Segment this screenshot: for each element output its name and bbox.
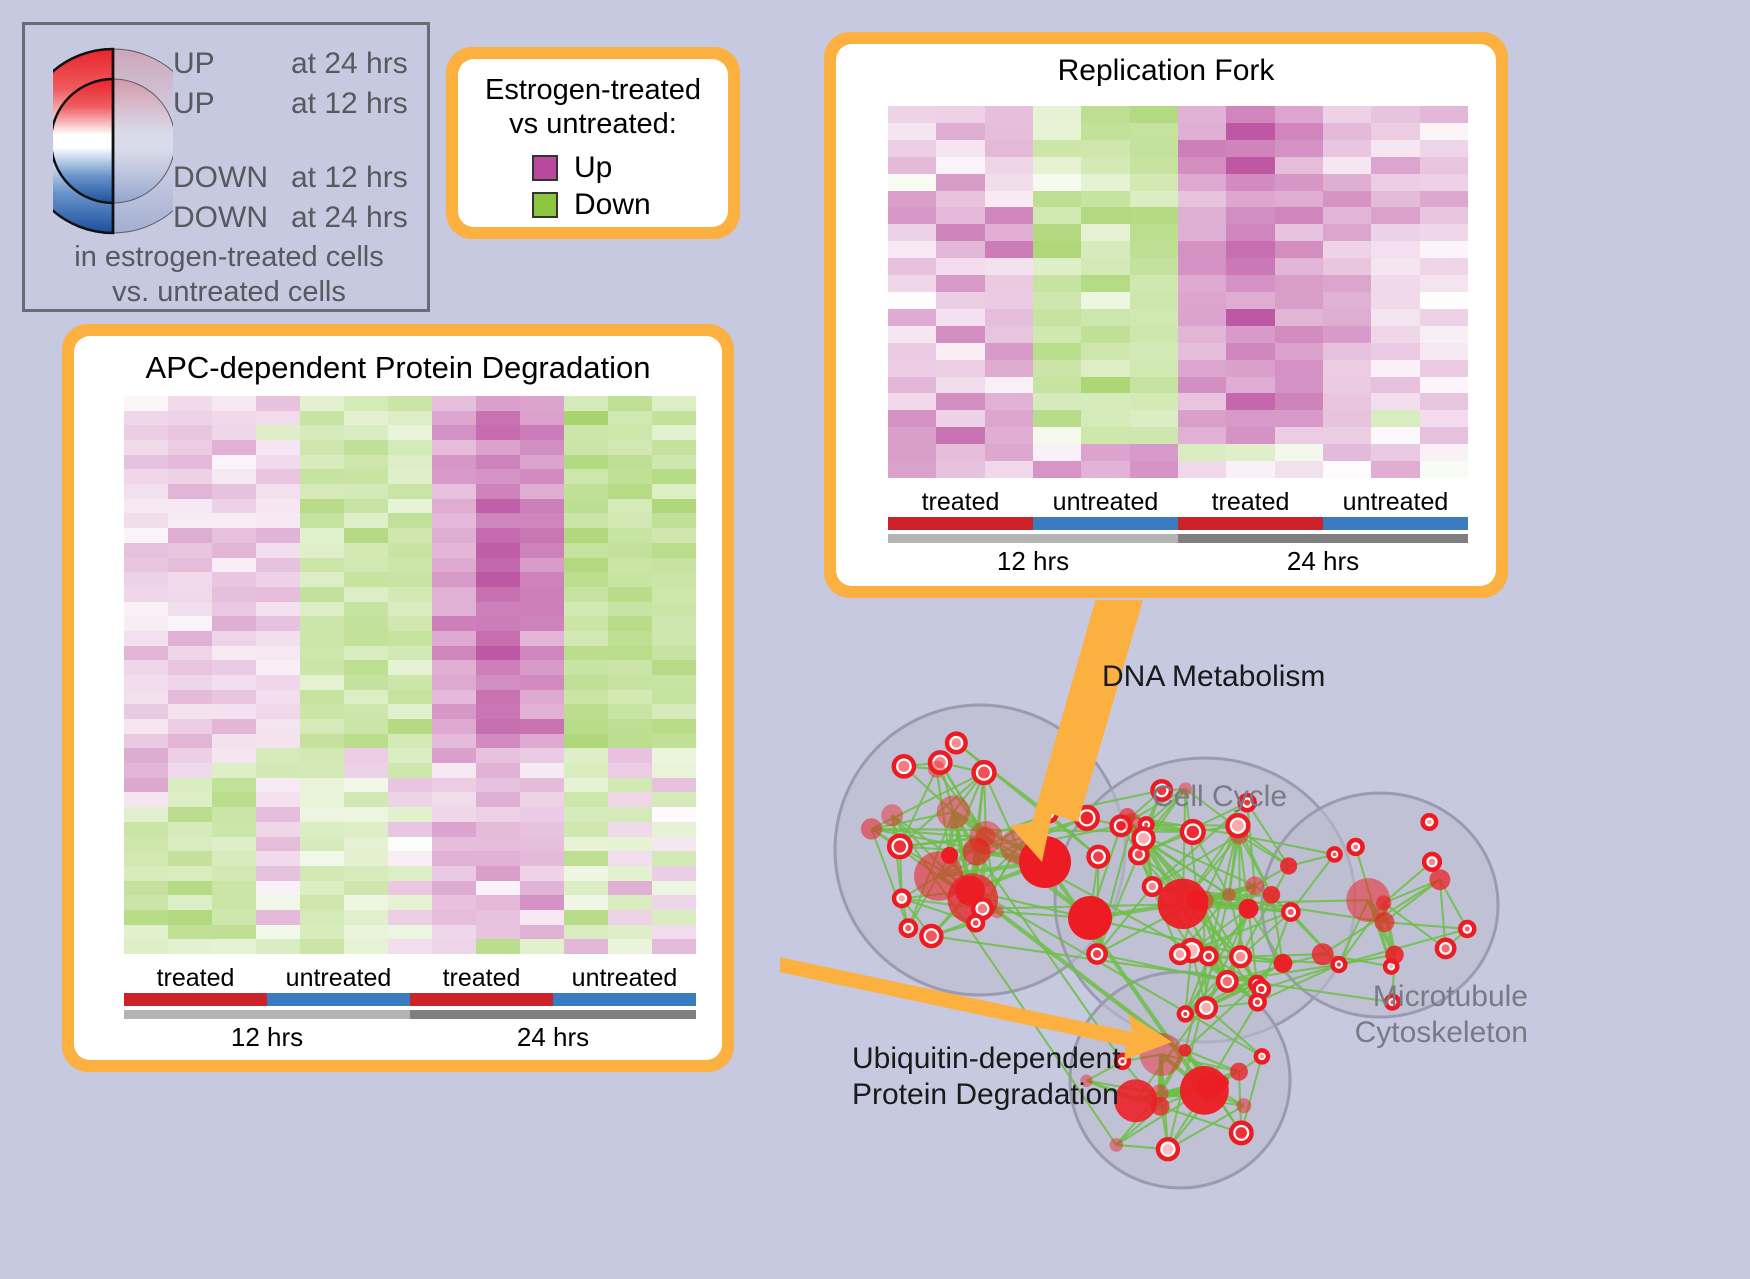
heatmap-cell bbox=[256, 837, 300, 852]
heatmap-cell bbox=[564, 748, 608, 763]
heatmap-cell bbox=[388, 543, 432, 558]
heatmap-cell bbox=[652, 837, 696, 852]
network-node bbox=[952, 738, 962, 748]
heatmap-cell bbox=[168, 748, 212, 763]
heatmap-cell bbox=[432, 558, 476, 573]
heatmap-cell bbox=[1420, 360, 1468, 377]
heatmap-cell bbox=[608, 440, 652, 455]
heatmap-cell bbox=[124, 807, 168, 822]
heatmap-cell bbox=[388, 513, 432, 528]
timepoint-labels: 12 hrs24 hrs bbox=[124, 1022, 696, 1053]
heatmap-cell bbox=[432, 646, 476, 661]
heatmap-cell bbox=[1130, 224, 1178, 241]
heatmap-cell bbox=[1323, 191, 1371, 208]
condition-color-segment bbox=[410, 993, 553, 1006]
heatmap-cell bbox=[888, 106, 936, 123]
heatmap-cell bbox=[168, 822, 212, 837]
network-node bbox=[1236, 1098, 1251, 1113]
heatmap-cell bbox=[652, 910, 696, 925]
heatmap-cell bbox=[1420, 377, 1468, 394]
timepoint-label: 12 hrs bbox=[124, 1022, 410, 1053]
heatmap-cell bbox=[1033, 427, 1081, 444]
heatmap-cell bbox=[344, 425, 388, 440]
heatmap-cell bbox=[1371, 224, 1419, 241]
heatmap-cell bbox=[608, 925, 652, 940]
heatmap-cell bbox=[124, 851, 168, 866]
heatmap-cell bbox=[388, 939, 432, 954]
heatmap-cell bbox=[1371, 343, 1419, 360]
heatmap-cell bbox=[1371, 258, 1419, 275]
heatmap-cell bbox=[344, 616, 388, 631]
heatmap-cell bbox=[344, 778, 388, 793]
heatmap-cell bbox=[300, 734, 344, 749]
heatmap-cell bbox=[564, 822, 608, 837]
heatmap-cell bbox=[212, 748, 256, 763]
heatmap-cell bbox=[168, 837, 212, 852]
heatmap-cell bbox=[520, 851, 564, 866]
heatmap-cell bbox=[652, 513, 696, 528]
heatmap-cell bbox=[256, 616, 300, 631]
heatmap-cell bbox=[1033, 275, 1081, 292]
network-node bbox=[1162, 1144, 1173, 1155]
timepoint-labels: 12 hrs24 hrs bbox=[888, 546, 1468, 577]
heatmap-cell bbox=[388, 704, 432, 719]
heatmap-cell bbox=[124, 822, 168, 837]
pathway-network-diagram: DNA Metabolism Cell Cycle Microtubule Cy… bbox=[780, 600, 1580, 1279]
heatmap-cell bbox=[1033, 393, 1081, 410]
heatmap-cell bbox=[168, 587, 212, 602]
heatmap-cell bbox=[520, 513, 564, 528]
heatmap-cell bbox=[520, 646, 564, 661]
heatmap-cell bbox=[256, 646, 300, 661]
heatmap-cell bbox=[936, 444, 984, 461]
heatmap-cell bbox=[432, 499, 476, 514]
heatmap-cell bbox=[936, 207, 984, 224]
heatmap-cell bbox=[256, 484, 300, 499]
heatmap-cell bbox=[168, 895, 212, 910]
heatmap-cell bbox=[476, 748, 520, 763]
heatmap-cell bbox=[652, 807, 696, 822]
heatmap-cell bbox=[168, 925, 212, 940]
heatmap-cell bbox=[388, 719, 432, 734]
heatmap-cell bbox=[432, 748, 476, 763]
heatmap-cell bbox=[564, 631, 608, 646]
heatmap-cell bbox=[168, 807, 212, 822]
heatmap-cell bbox=[388, 851, 432, 866]
network-node bbox=[905, 925, 911, 931]
timepoint-label: 24 hrs bbox=[1178, 546, 1468, 577]
heatmap-cell bbox=[256, 631, 300, 646]
heatmap-cell bbox=[432, 837, 476, 852]
timepoint-graybar bbox=[888, 534, 1468, 543]
heatmap-cell bbox=[652, 425, 696, 440]
heatmap-cell bbox=[388, 925, 432, 940]
heatmap-cell bbox=[652, 866, 696, 881]
heatmap-cell bbox=[985, 224, 1033, 241]
heatmap-cell bbox=[124, 572, 168, 587]
heatmap-cell bbox=[1033, 191, 1081, 208]
heatmap-cell bbox=[564, 734, 608, 749]
heatmap-cell bbox=[1130, 326, 1178, 343]
heatmap-cell bbox=[1081, 106, 1129, 123]
heatmap-cell bbox=[124, 646, 168, 661]
replication-fork-heatmap bbox=[888, 106, 1468, 478]
colorwheel-direction: DOWN bbox=[173, 161, 291, 195]
heatmap-cell bbox=[432, 587, 476, 602]
heatmap-cell bbox=[1275, 106, 1323, 123]
heatmap-cell bbox=[212, 543, 256, 558]
heatmap-cell bbox=[212, 778, 256, 793]
heatmap-cell bbox=[300, 719, 344, 734]
heatmap-cell bbox=[476, 925, 520, 940]
heatmap-cell bbox=[1033, 444, 1081, 461]
heatmap-cell bbox=[1033, 224, 1081, 241]
network-node bbox=[1288, 909, 1294, 915]
heatmap-cell bbox=[520, 396, 564, 411]
heatmap-cell bbox=[1420, 427, 1468, 444]
heatmap-cell bbox=[256, 719, 300, 734]
heatmap-cell bbox=[256, 748, 300, 763]
heatmap-cell bbox=[1323, 241, 1371, 258]
heatmap-cell bbox=[1420, 461, 1468, 478]
heatmap-cell bbox=[888, 444, 936, 461]
timepoint-color-segment bbox=[410, 1010, 696, 1019]
heatmap-cell bbox=[985, 326, 1033, 343]
heatmap-cell bbox=[476, 396, 520, 411]
heatmap-cell bbox=[300, 925, 344, 940]
heatmap-cell bbox=[388, 646, 432, 661]
heatmap-cell bbox=[1323, 343, 1371, 360]
heatmap-cell bbox=[1033, 174, 1081, 191]
heatmap-cell bbox=[1130, 157, 1178, 174]
heatmap-cell bbox=[564, 778, 608, 793]
heatmap-cell bbox=[1226, 377, 1274, 394]
network-node bbox=[1236, 952, 1246, 962]
heatmap-cell bbox=[1323, 410, 1371, 427]
heatmap-cell bbox=[124, 690, 168, 705]
heatmap-cell bbox=[1275, 444, 1323, 461]
heatmap-cell bbox=[300, 763, 344, 778]
heatmap-cell bbox=[520, 925, 564, 940]
heatmap-cell bbox=[564, 572, 608, 587]
heatmap-cell bbox=[476, 455, 520, 470]
heatmap-cell bbox=[432, 484, 476, 499]
heatmap-cell bbox=[212, 881, 256, 896]
heatmap-cell bbox=[1178, 258, 1226, 275]
heatmap-cell bbox=[388, 572, 432, 587]
heatmap-cell bbox=[1130, 140, 1178, 157]
heatmap-cell bbox=[212, 690, 256, 705]
heatmap-cell bbox=[432, 411, 476, 426]
heatmap-cell bbox=[888, 258, 936, 275]
heatmap-cell bbox=[124, 425, 168, 440]
colorwheel-spacer bbox=[173, 127, 423, 161]
heatmap-cell bbox=[344, 411, 388, 426]
heatmap-cell bbox=[1226, 275, 1274, 292]
heatmap-cell bbox=[888, 275, 936, 292]
timepoint-label: 12 hrs bbox=[888, 546, 1178, 577]
heatmap-cell bbox=[1323, 309, 1371, 326]
heatmap-cell bbox=[652, 660, 696, 675]
heatmap-cell bbox=[344, 631, 388, 646]
heatmap-cell bbox=[388, 499, 432, 514]
heatmap-cell bbox=[564, 455, 608, 470]
heatmap-cell bbox=[985, 461, 1033, 478]
heatmap-cell bbox=[432, 572, 476, 587]
heatmap-cell bbox=[652, 792, 696, 807]
condition-labels: treateduntreatedtreateduntreated bbox=[124, 964, 696, 993]
heatmap-cell bbox=[1178, 140, 1226, 157]
heatmap-cell bbox=[564, 763, 608, 778]
heatmap-cell bbox=[300, 660, 344, 675]
cluster-label-ubiquitin-line2: Protein Degradation bbox=[852, 1078, 1119, 1111]
apc-degradation-axis: treateduntreatedtreateduntreated 12 hrs2… bbox=[124, 964, 696, 1053]
heatmap-cell bbox=[300, 440, 344, 455]
heatmap-cell bbox=[300, 484, 344, 499]
heatmap-cell bbox=[888, 461, 936, 478]
network-node bbox=[1236, 1127, 1247, 1138]
heatmap-cell bbox=[256, 425, 300, 440]
heatmap-cell bbox=[1130, 444, 1178, 461]
heatmap-cell bbox=[388, 675, 432, 690]
heatmap-cell bbox=[124, 704, 168, 719]
heatmap-cell bbox=[344, 910, 388, 925]
heatmap-cell bbox=[1275, 326, 1323, 343]
heatmap-cell bbox=[652, 778, 696, 793]
heatmap-cell bbox=[608, 807, 652, 822]
heatmap-cell bbox=[564, 895, 608, 910]
heatmap-cell bbox=[300, 587, 344, 602]
network-node bbox=[1441, 944, 1449, 952]
heatmap-cell bbox=[564, 866, 608, 881]
heatmap-cell bbox=[476, 631, 520, 646]
legend-item-up: Up bbox=[532, 149, 728, 186]
heatmap-cell bbox=[256, 602, 300, 617]
heatmap-cell bbox=[1226, 360, 1274, 377]
timepoint-color-segment bbox=[1178, 534, 1468, 543]
heatmap-cell bbox=[476, 807, 520, 822]
heatmap-cell bbox=[564, 484, 608, 499]
heatmap-cell bbox=[520, 748, 564, 763]
heatmap-cell bbox=[936, 241, 984, 258]
heatmap-cell bbox=[300, 528, 344, 543]
condition-labels: treateduntreatedtreateduntreated bbox=[888, 488, 1468, 517]
heatmap-cell bbox=[520, 778, 564, 793]
network-node bbox=[1197, 1073, 1223, 1099]
heatmap-cell bbox=[1371, 241, 1419, 258]
apc-degradation-heatmap bbox=[124, 396, 696, 954]
heatmap-cell bbox=[388, 690, 432, 705]
heatmap-cell bbox=[1275, 140, 1323, 157]
heatmap-cell bbox=[1033, 140, 1081, 157]
heatmap-cell bbox=[168, 602, 212, 617]
heatmap-cell bbox=[1275, 292, 1323, 309]
heatmap-cell bbox=[388, 425, 432, 440]
heatmap-cell bbox=[1081, 157, 1129, 174]
heatmap-cell bbox=[520, 895, 564, 910]
heatmap-cell bbox=[520, 528, 564, 543]
heatmap-cell bbox=[1130, 258, 1178, 275]
network-node bbox=[1120, 1059, 1124, 1063]
heatmap-cell bbox=[1081, 224, 1129, 241]
heatmap-cell bbox=[1275, 427, 1323, 444]
heatmap-cell bbox=[608, 469, 652, 484]
heatmap-cell bbox=[520, 910, 564, 925]
condition-label: untreated bbox=[553, 964, 696, 993]
heatmap-cell bbox=[344, 484, 388, 499]
heatmap-cell bbox=[168, 469, 212, 484]
heatmap-cell bbox=[1226, 224, 1274, 241]
heatmap-cell bbox=[1033, 106, 1081, 123]
heatmap-cell bbox=[564, 807, 608, 822]
network-node bbox=[1183, 1012, 1187, 1016]
heatmap-cell bbox=[936, 393, 984, 410]
timepoint-color-segment bbox=[888, 534, 1178, 543]
heatmap-cell bbox=[476, 616, 520, 631]
network-node bbox=[1333, 852, 1337, 856]
expression-legend-title-line2: vs untreated: bbox=[458, 107, 728, 141]
heatmap-cell bbox=[1420, 207, 1468, 224]
heatmap-cell bbox=[168, 631, 212, 646]
heatmap-cell bbox=[985, 444, 1033, 461]
heatmap-cell bbox=[985, 207, 1033, 224]
heatmap-cell bbox=[212, 528, 256, 543]
heatmap-cell bbox=[1275, 157, 1323, 174]
heatmap-cell bbox=[1081, 343, 1129, 360]
heatmap-cell bbox=[300, 881, 344, 896]
network-node bbox=[1230, 1063, 1248, 1081]
heatmap-cell bbox=[1178, 207, 1226, 224]
heatmap-cell bbox=[1275, 360, 1323, 377]
network-node bbox=[928, 761, 945, 778]
network-node bbox=[1280, 857, 1297, 874]
heatmap-cell bbox=[1033, 258, 1081, 275]
heatmap-cell bbox=[124, 719, 168, 734]
heatmap-cell bbox=[388, 587, 432, 602]
heatmap-cell bbox=[212, 866, 256, 881]
heatmap-cell bbox=[608, 939, 652, 954]
network-node bbox=[1222, 888, 1236, 902]
heatmap-cell bbox=[520, 807, 564, 822]
heatmap-cell bbox=[1226, 157, 1274, 174]
heatmap-cell bbox=[564, 792, 608, 807]
heatmap-cell bbox=[256, 587, 300, 602]
heatmap-cell bbox=[1323, 123, 1371, 140]
heatmap-cell bbox=[212, 734, 256, 749]
heatmap-cell bbox=[564, 411, 608, 426]
heatmap-cell bbox=[1130, 410, 1178, 427]
heatmap-cell bbox=[256, 734, 300, 749]
heatmap-cell bbox=[432, 822, 476, 837]
heatmap-cell bbox=[1178, 360, 1226, 377]
heatmap-cell bbox=[936, 258, 984, 275]
heatmap-cell bbox=[520, 411, 564, 426]
condition-color-segment bbox=[1178, 517, 1323, 530]
heatmap-cell bbox=[608, 704, 652, 719]
heatmap-cell bbox=[124, 396, 168, 411]
heatmap-cell bbox=[168, 939, 212, 954]
network-node bbox=[898, 761, 909, 772]
colorwheel-time: at 24 hrs bbox=[291, 201, 408, 235]
heatmap-cell bbox=[300, 616, 344, 631]
heatmap-cell bbox=[124, 484, 168, 499]
heatmap-cell bbox=[1226, 427, 1274, 444]
network-node bbox=[1193, 890, 1214, 911]
heatmap-cell bbox=[124, 792, 168, 807]
colorwheel-direction: UP bbox=[173, 87, 291, 121]
heatmap-cell bbox=[985, 241, 1033, 258]
heatmap-cell bbox=[1033, 410, 1081, 427]
heatmap-cell bbox=[608, 558, 652, 573]
network-node bbox=[1465, 926, 1470, 931]
heatmap-cell bbox=[344, 675, 388, 690]
heatmap-cell bbox=[300, 939, 344, 954]
heatmap-cell bbox=[344, 939, 388, 954]
heatmap-cell bbox=[256, 543, 300, 558]
heatmap-cell bbox=[936, 292, 984, 309]
heatmap-cell bbox=[888, 191, 936, 208]
legend-item-down-label: Down bbox=[574, 188, 651, 222]
heatmap-cell bbox=[476, 411, 520, 426]
heatmap-cell bbox=[1226, 343, 1274, 360]
heatmap-cell bbox=[212, 763, 256, 778]
network-node bbox=[899, 895, 905, 901]
heatmap-cell bbox=[985, 393, 1033, 410]
heatmap-cell bbox=[168, 866, 212, 881]
network-node bbox=[978, 904, 988, 914]
heatmap-cell bbox=[1226, 191, 1274, 208]
heatmap-cell bbox=[1371, 275, 1419, 292]
heatmap-cell bbox=[212, 484, 256, 499]
heatmap-cell bbox=[212, 425, 256, 440]
replication-fork-axis: treateduntreatedtreateduntreated 12 hrs2… bbox=[888, 488, 1468, 577]
heatmap-cell bbox=[476, 543, 520, 558]
heatmap-cell bbox=[388, 631, 432, 646]
expression-legend-panel: Estrogen-treated vs untreated: Up Down bbox=[446, 47, 740, 239]
heatmap-cell bbox=[1226, 207, 1274, 224]
heatmap-cell bbox=[608, 734, 652, 749]
heatmap-cell bbox=[432, 675, 476, 690]
heatmap-cell bbox=[1226, 123, 1274, 140]
heatmap-cell bbox=[888, 241, 936, 258]
heatmap-cell bbox=[1323, 326, 1371, 343]
heatmap-cell bbox=[1178, 309, 1226, 326]
heatmap-cell bbox=[1275, 309, 1323, 326]
heatmap-cell bbox=[476, 513, 520, 528]
heatmap-cell bbox=[476, 778, 520, 793]
network-node bbox=[1114, 1079, 1157, 1122]
heatmap-cell bbox=[476, 851, 520, 866]
heatmap-cell bbox=[1226, 106, 1274, 123]
heatmap-cell bbox=[936, 140, 984, 157]
heatmap-cell bbox=[256, 396, 300, 411]
heatmap-cell bbox=[936, 106, 984, 123]
heatmap-cell bbox=[608, 411, 652, 426]
heatmap-cell bbox=[300, 631, 344, 646]
network-node bbox=[1385, 946, 1404, 965]
heatmap-cell bbox=[168, 528, 212, 543]
heatmap-cell bbox=[344, 499, 388, 514]
heatmap-cell bbox=[936, 224, 984, 241]
timepoint-label: 24 hrs bbox=[410, 1022, 696, 1053]
heatmap-cell bbox=[476, 895, 520, 910]
heatmap-cell bbox=[168, 881, 212, 896]
heatmap-cell bbox=[1178, 106, 1226, 123]
heatmap-cell bbox=[212, 675, 256, 690]
heatmap-cell bbox=[1323, 461, 1371, 478]
heatmap-cell bbox=[564, 675, 608, 690]
heatmap-cell bbox=[256, 499, 300, 514]
